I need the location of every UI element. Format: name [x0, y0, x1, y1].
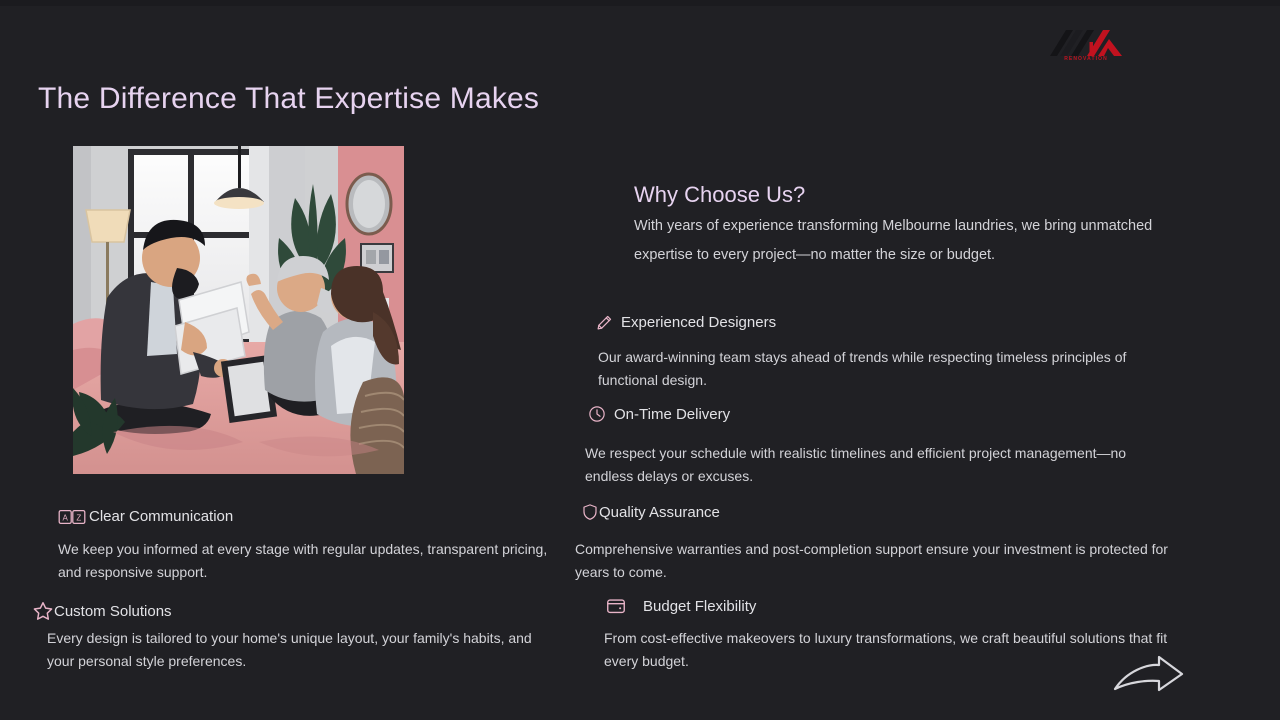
feature-label: Budget Flexibility [643, 598, 756, 615]
feature-body-budget-flexibility: From cost-effective makeovers to luxury … [604, 627, 1186, 672]
feature-label: Experienced Designers [621, 314, 776, 331]
feature-title-custom-solutions: Custom Solutions [32, 600, 172, 622]
shield-icon [581, 503, 599, 521]
feature-title-experienced-designers: Experienced Designers [596, 314, 776, 331]
feature-title-clear-communication: A Z Clear Communication [58, 508, 233, 525]
star-icon [32, 600, 54, 622]
svg-text:A: A [63, 513, 69, 522]
feature-body-experienced-designers: Our award-winning team stays ahead of tr… [598, 346, 1180, 391]
feature-body-quality-assurance: Comprehensive warranties and post-comple… [575, 538, 1173, 583]
hero-image [73, 146, 404, 474]
page-title: The Difference That Expertise Makes [38, 82, 539, 116]
feature-title-quality-assurance: Quality Assurance [581, 503, 720, 521]
why-choose-us-body: With years of experience transforming Me… [634, 212, 1179, 270]
svg-text:Z: Z [76, 513, 81, 522]
feature-body-on-time-delivery: We respect your schedule with realistic … [585, 442, 1173, 487]
slide-canvas: RENOVATION The Difference That Expertise… [0, 0, 1280, 720]
logo-wordmark: RENOVATION [1046, 56, 1126, 62]
feature-title-budget-flexibility: Budget Flexibility [605, 595, 756, 617]
clock-icon [588, 405, 606, 423]
brand-logo[interactable]: RENOVATION [1046, 26, 1126, 68]
wallet-icon [605, 595, 627, 617]
feature-label: Clear Communication [89, 508, 233, 525]
pencil-icon [596, 314, 613, 331]
feature-title-on-time-delivery: On-Time Delivery [588, 405, 730, 423]
next-slide-button[interactable] [1113, 655, 1185, 701]
feature-label: Custom Solutions [54, 603, 172, 620]
feature-body-custom-solutions: Every design is tailored to your home's … [47, 627, 547, 672]
feature-body-clear-communication: We keep you informed at every stage with… [58, 538, 558, 583]
renovation-roof-logo-icon [1046, 26, 1126, 60]
feature-label: Quality Assurance [599, 504, 720, 521]
why-choose-us-title: Why Choose Us? [634, 182, 805, 208]
top-letterbox-strip [0, 0, 1280, 6]
curved-arrow-right-icon [1113, 655, 1185, 701]
input-letters-icon: A Z [58, 509, 86, 525]
feature-label: On-Time Delivery [614, 406, 730, 423]
consultation-illustration-icon [73, 146, 404, 474]
